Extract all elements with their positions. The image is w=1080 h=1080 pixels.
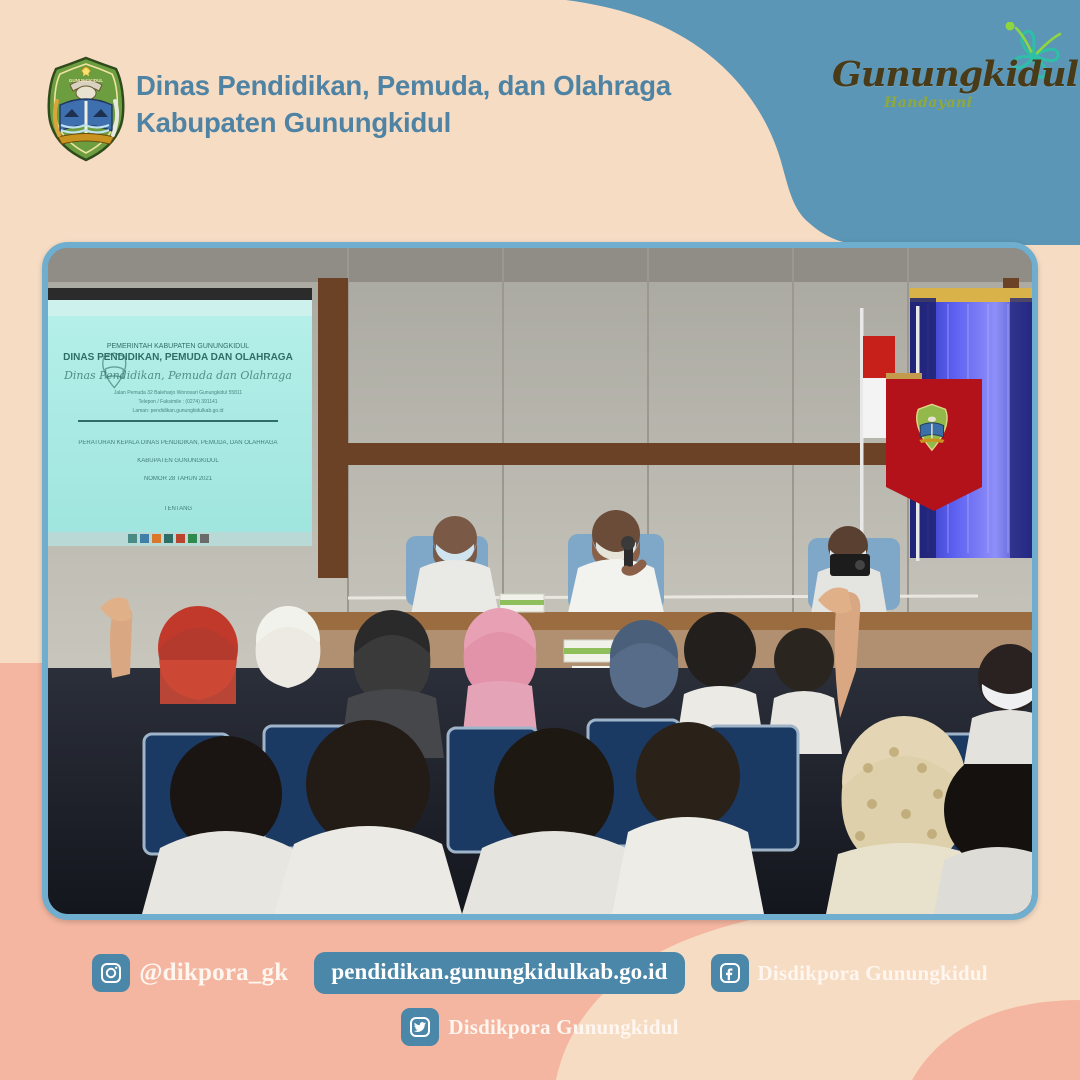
attendee-hijab-white <box>256 606 321 688</box>
twitter-page-name[interactable]: Disdikpora Gunungkidul <box>448 1015 678 1040</box>
header-title-line2: Kabupaten Gunungkidul <box>136 105 671 142</box>
social-media-footer: @dikpora_gk pendidikan.gunungkidulkab.go… <box>0 952 1080 1046</box>
svg-text:PEMERINTAH KABUPATEN GUNUNGKID: PEMERINTAH KABUPATEN GUNUNGKIDUL <box>107 343 249 350</box>
facebook-entry[interactable]: Disdikpora Gunungkidul <box>711 954 988 992</box>
ceiling-band <box>48 248 1032 282</box>
header-title-line1: Dinas Pendidikan, Pemuda, dan Olahraga <box>136 68 671 105</box>
brand-wordmark: Gunungkidul <box>832 54 1032 95</box>
facebook-icon[interactable] <box>711 954 749 992</box>
svg-text:TENTANG: TENTANG <box>164 506 193 512</box>
svg-text:NOMOR 28 TAHUN 2021: NOMOR 28 TAHUN 2021 <box>144 476 213 482</box>
wood-column-left <box>318 278 348 578</box>
svg-text:GUNUNGKIDUL: GUNUNGKIDUL <box>69 78 104 83</box>
twitter-icon[interactable] <box>401 1008 439 1046</box>
svg-text:Dinas Pendidikan, Pemuda dan O: Dinas Pendidikan, Pemuda dan Olahraga <box>63 369 292 382</box>
instagram-handle[interactable]: @dikpora_gk <box>139 959 288 987</box>
projection-screen: PEMERINTAH KABUPATEN GUNUNGKIDUL DINAS P… <box>48 288 312 546</box>
svg-text:PERATURAN KEPALA DINAS PENDIDI: PERATURAN KEPALA DINAS PENDIDIKAN, PEMUD… <box>78 440 277 446</box>
seminar-photo: PEMERINTAH KABUPATEN GUNUNGKIDUL DINAS P… <box>42 242 1038 920</box>
svg-text:DINAS PENDIDIKAN, PEMUDA DAN O: DINAS PENDIDIKAN, PEMUDA DAN OLAHRAGA <box>63 352 293 363</box>
twitter-entry[interactable]: Disdikpora Gunungkidul <box>401 1008 678 1046</box>
gunungkidul-handayani-logo: Gunungkidul Handayani <box>832 40 1062 140</box>
attendee-hijab-batik-blue <box>610 620 679 708</box>
attendee-hijab-red <box>158 606 238 704</box>
social-row-2: Disdikpora Gunungkidul <box>0 1008 1080 1046</box>
page-header: GUNUNGKIDUL Dinas Pendidikan, Pemuda, da… <box>0 0 1080 200</box>
flag-pole-left <box>860 308 864 558</box>
page-title: Dinas Pendidikan, Pemuda, dan Olahraga K… <box>136 68 671 141</box>
social-row-1: @dikpora_gk pendidikan.gunungkidulkab.go… <box>0 952 1080 994</box>
gunungkidul-regency-crest-icon: GUNUNGKIDUL <box>44 55 128 163</box>
svg-text:KABUPATEN GUNUNGKIDUL: KABUPATEN GUNUNGKIDUL <box>137 458 219 464</box>
svg-text:Jalan Pemuda 32 Baleharjo Wono: Jalan Pemuda 32 Baleharjo Wonosari Gunun… <box>114 390 242 396</box>
facebook-page-name[interactable]: Disdikpora Gunungkidul <box>758 961 988 986</box>
photo-content: PEMERINTAH KABUPATEN GUNUNGKIDUL DINAS P… <box>48 248 1032 914</box>
taskbar-icons <box>128 534 209 543</box>
website-url-pill[interactable]: pendidikan.gunungkidulkab.go.id <box>314 952 684 994</box>
attendee-hijab-pink <box>462 608 538 742</box>
instagram-entry[interactable]: @dikpora_gk <box>92 954 288 992</box>
svg-text:Laman: pendidikan.gunungkidulk: Laman: pendidikan.gunungkidulkab.go.id <box>133 408 224 414</box>
svg-text:Telepon / Faksimile : (0274) 3: Telepon / Faksimile : (0274) 391141 <box>138 399 217 405</box>
instagram-icon[interactable] <box>92 954 130 992</box>
brand-tagline: Handayani <box>884 95 973 111</box>
indonesian-flag-red <box>863 336 895 378</box>
